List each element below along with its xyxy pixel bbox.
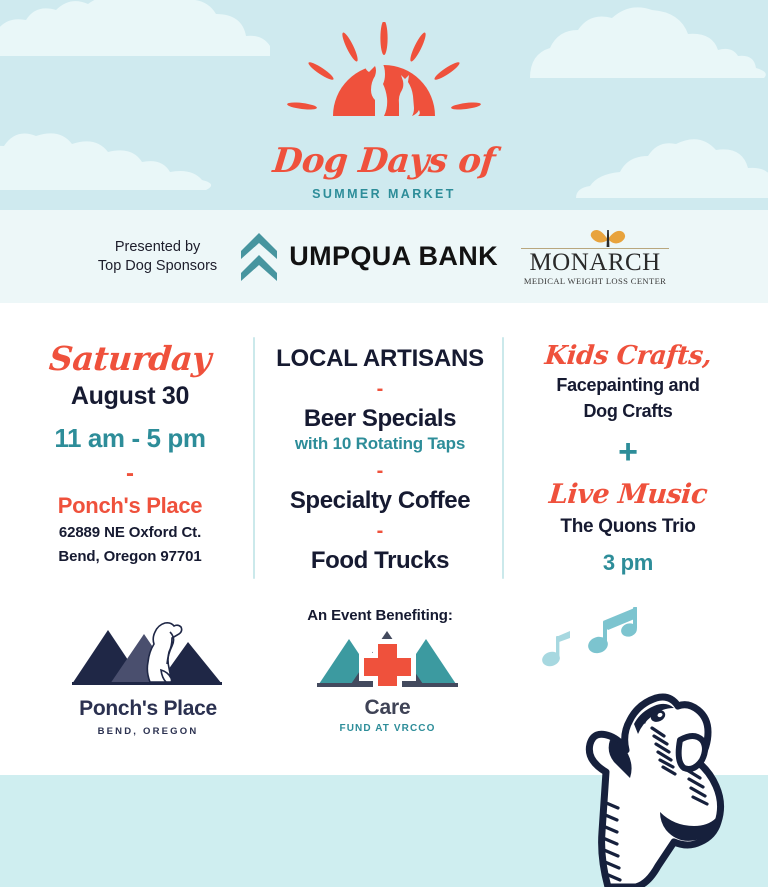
ponch-logo-city: BEND, OREGON [58, 726, 238, 737]
sponsor-band: Presented by Top Dog Sponsors UMPQUA BAN… [0, 210, 768, 303]
offering-beer: Beer Specials [266, 405, 494, 433]
sponsor-logo-monarch: MONARCH MEDICAL WEIGHT LOSS CENTER [520, 227, 670, 286]
monarch-name: MONARCH [529, 249, 660, 276]
sunburst-dog-cat-icon [271, 22, 497, 140]
event-date: August 30 [20, 381, 240, 411]
offering-food-trucks: Food Trucks [266, 547, 494, 575]
offering-coffee: Specialty Coffee [266, 487, 494, 515]
hero-subtitle: SUMMER MARKET [312, 187, 456, 201]
event-venue: Ponch's Place [20, 493, 240, 519]
howling-dog-icon [548, 636, 768, 887]
offering-beer-sub: with 10 Rotating Taps [266, 433, 494, 455]
kids-crafts-sub-line1: Facepainting and [514, 374, 742, 397]
offerings-separator-1: - [266, 382, 494, 396]
column-activities: Kids Crafts, Facepainting and Dog Crafts… [514, 303, 742, 577]
hero-title: Dog Days of [271, 144, 496, 178]
column-divider-left [253, 337, 255, 579]
event-poster: Dog Days of SUMMER MARKET Presented by T… [0, 0, 768, 887]
column-when-where: Saturday August 30 11 am - 5 pm - Ponch'… [20, 303, 240, 567]
care-logo-sub: FUND AT VRCCO [315, 723, 460, 734]
care-logo-name: Care [315, 696, 460, 720]
offerings-separator-2: - [266, 464, 494, 478]
plus-separator: + [514, 437, 742, 467]
kids-crafts-title: Kids Crafts, [513, 341, 744, 371]
column-offerings: LOCAL ARTISANS - Beer Specials with 10 R… [266, 303, 494, 626]
offerings-separator-3: - [266, 524, 494, 538]
logo-care-fund: Care FUND AT VRCCO [315, 623, 460, 734]
logo-ponchs-place: Ponch's Place BEND, OREGON [58, 616, 238, 737]
presented-by-line1: Presented by [98, 238, 217, 257]
band-name: The Quons Trio [514, 514, 742, 539]
ponch-place-mountain-dog-icon [66, 616, 231, 691]
sponsor-logo-umpqua: UMPQUA BANK [239, 231, 498, 283]
event-address-line1: 62889 NE Oxford Ct. [20, 522, 240, 543]
event-time: 11 am - 5 pm [20, 423, 240, 453]
live-music-title: Live Music [513, 479, 744, 511]
ponch-logo-name: Ponch's Place [58, 697, 238, 721]
left-separator: - [20, 464, 240, 484]
monarch-tagline: MEDICAL WEIGHT LOSS CENTER [524, 276, 666, 286]
column-divider-right [502, 337, 504, 579]
offerings-heading: LOCAL ARTISANS [266, 345, 494, 373]
umpqua-chevron-icon [239, 231, 279, 283]
sky-hero-background: Dog Days of SUMMER MARKET [0, 0, 768, 210]
presented-by-line2: Top Dog Sponsors [98, 257, 217, 276]
umpqua-bank-name: UMPQUA BANK [289, 241, 498, 272]
kids-crafts-sub-line2: Dog Crafts [514, 400, 742, 423]
event-day: Saturday [18, 341, 241, 377]
event-address-line2: Bend, Oregon 97701 [20, 546, 240, 567]
music-showtime: 3 pm [514, 549, 742, 577]
howling-dog-illustration [548, 636, 768, 887]
presented-by-label: Presented by Top Dog Sponsors [98, 238, 217, 276]
hero-logo: Dog Days of SUMMER MARKET [0, 22, 768, 201]
care-fund-cross-mountain-icon [315, 623, 460, 695]
